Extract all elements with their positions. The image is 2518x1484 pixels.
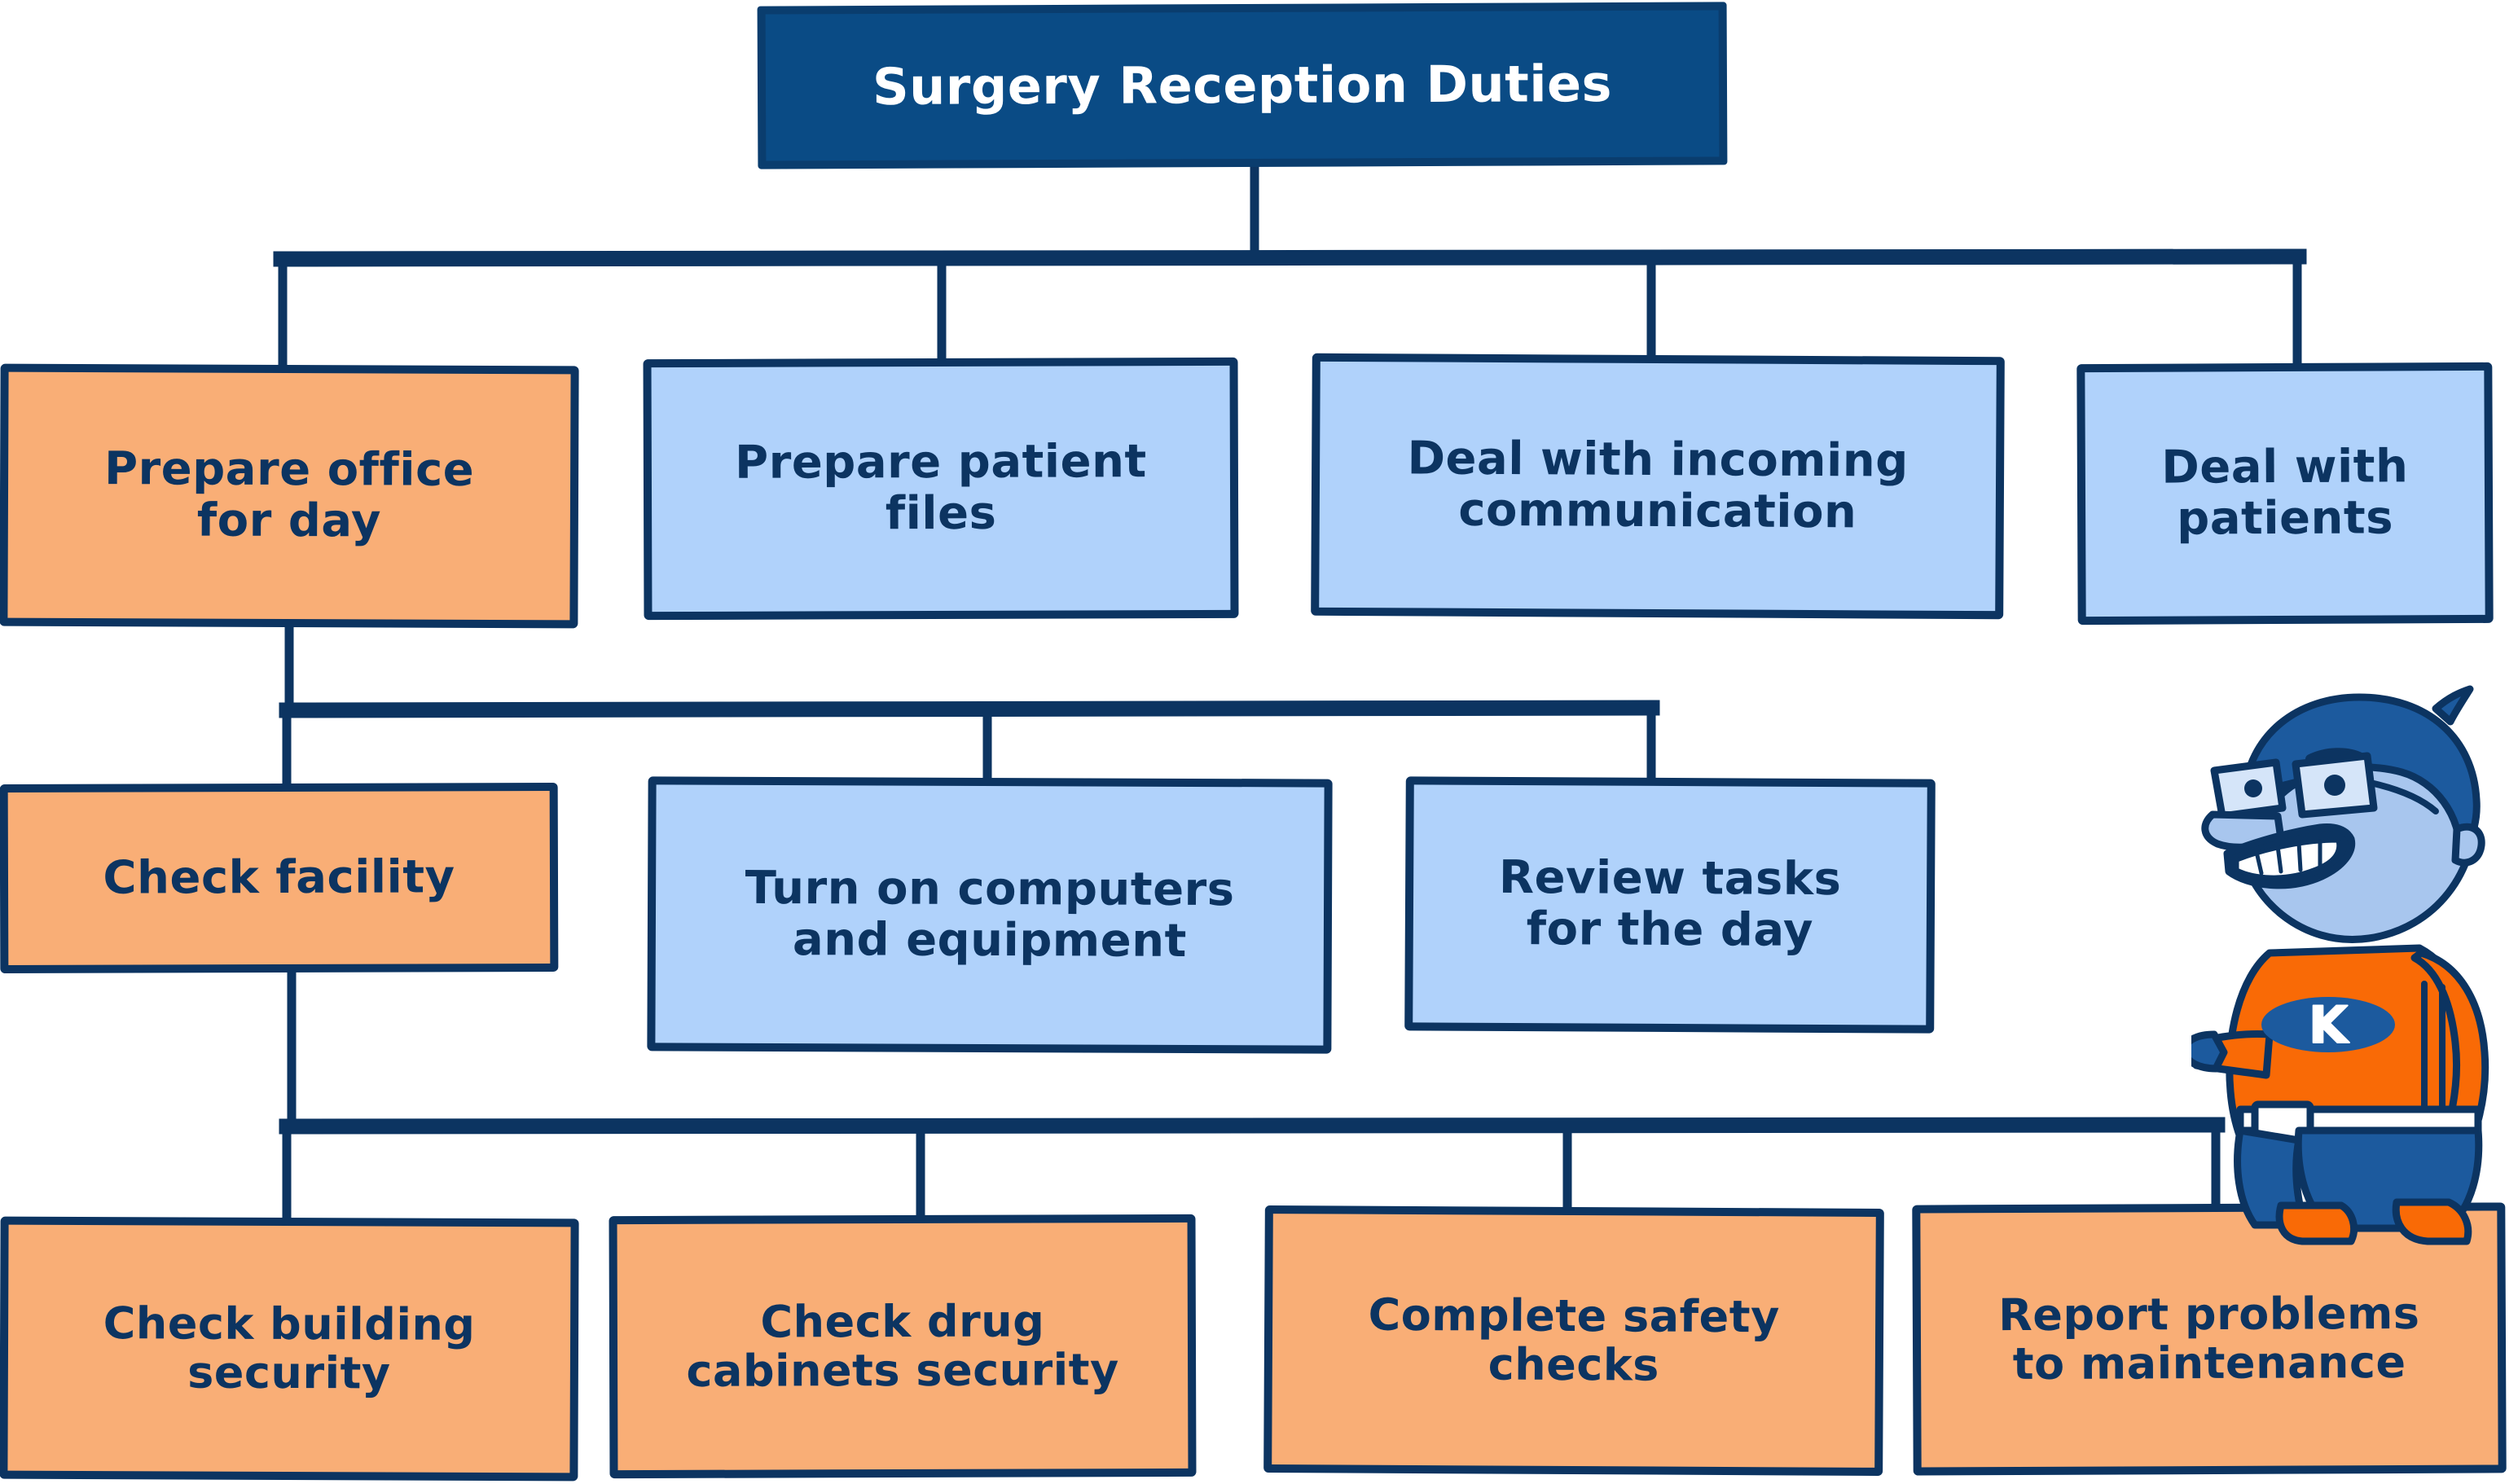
node-prepare-office-for-day[interactable]: Prepare office for day bbox=[0, 364, 579, 629]
node-label-line1: Check building bbox=[103, 1297, 476, 1350]
node-label-line2: cabinets security bbox=[686, 1344, 1119, 1397]
node-check-facility[interactable]: Check facility bbox=[0, 783, 558, 973]
hair-tuft bbox=[2436, 689, 2470, 722]
shirt-logo-letter: K bbox=[2309, 995, 2349, 1055]
node-label-line1: Check facility bbox=[103, 850, 455, 904]
boot-right bbox=[2396, 1202, 2467, 1241]
node-check-building-security[interactable]: Check building security bbox=[0, 1217, 579, 1482]
node-label-line1: Turn on computers bbox=[745, 862, 1235, 916]
mascot-character-illustration: K bbox=[2191, 684, 2518, 1254]
node-label-line2: for day bbox=[197, 494, 381, 548]
node-label-line2: to maintenance bbox=[2013, 1337, 2406, 1390]
flowchart-canvas: Surgery Reception Duties Prepare office … bbox=[0, 0, 2518, 1484]
node-deal-with-incoming-communication[interactable]: Deal with incoming communication bbox=[1311, 353, 2005, 619]
node-turn-on-computers-and-equipment[interactable]: Turn on computers and equipment bbox=[647, 776, 1332, 1053]
node-label-line2: files bbox=[885, 487, 997, 540]
node-label-line2: for the day bbox=[1527, 902, 1814, 957]
node-prepare-patient-files[interactable]: Prepare patient files bbox=[643, 358, 1238, 620]
node-label-line2: and equipment bbox=[793, 913, 1187, 968]
node-review-tasks-for-the-day[interactable]: Review tasks for the day bbox=[1404, 776, 1936, 1033]
node-label-line1: Complete safety bbox=[1368, 1289, 1780, 1342]
node-label-line2: security bbox=[187, 1347, 391, 1399]
ear bbox=[2455, 827, 2481, 863]
boot-left bbox=[2279, 1205, 2353, 1241]
node-check-drug-cabinets-security[interactable]: Check drug cabinets security bbox=[609, 1214, 1196, 1478]
node-label-line2: checks bbox=[1488, 1338, 1659, 1390]
pointing-hand bbox=[2191, 1034, 2224, 1069]
node-label-line1: Deal with incoming bbox=[1407, 432, 1909, 488]
node-label-line2: patients bbox=[2177, 491, 2393, 545]
node-label-line1: Prepare office bbox=[104, 442, 474, 497]
node-label-line1: Report problems bbox=[1998, 1287, 2420, 1340]
node-label-line1: Check drug bbox=[760, 1295, 1044, 1347]
node-label-line2: communication bbox=[1458, 484, 1857, 539]
node-label-line1: Deal with bbox=[2161, 441, 2408, 494]
diagram-title-label: Surgery Reception Duties bbox=[777, 55, 1707, 116]
node-complete-safety-checks[interactable]: Complete safety checks bbox=[1263, 1205, 1884, 1476]
node-label-line1: Review tasks bbox=[1499, 851, 1842, 906]
node-label-line1: Prepare patient bbox=[735, 435, 1147, 490]
node-deal-with-patients[interactable]: Deal with patients bbox=[2076, 362, 2493, 625]
diagram-title-node: Surgery Reception Duties bbox=[758, 2, 1728, 169]
